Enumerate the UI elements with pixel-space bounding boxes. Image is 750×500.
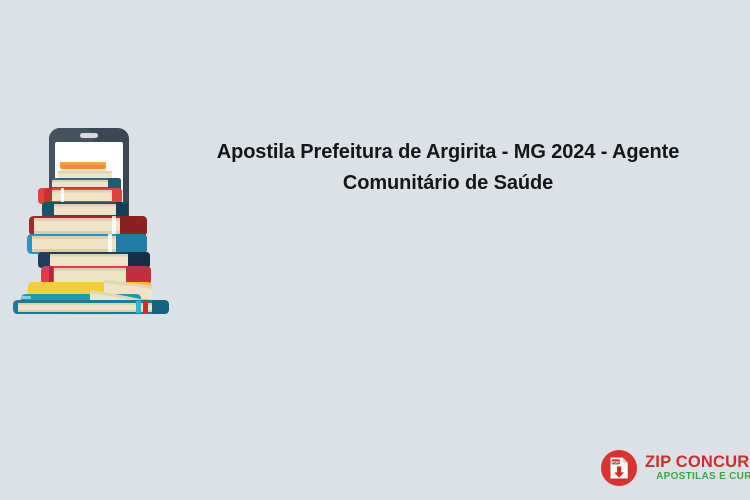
book-navy-upper [42,202,128,218]
brand-name: ZIP CONCURSOS [645,454,750,471]
pdf-download-circle-icon: PDF [600,449,638,487]
product-title-line-2: Comunitário de Saúde [168,168,728,199]
product-title-line-1: Apostila Prefeitura de Argirita - MG 202… [168,137,728,168]
book-teal-base [13,300,169,314]
stack-of-books-with-smartphone-illustration [8,122,176,317]
brand-logo: PDF ZIP CONCURSOS APOSTILAS E CURSOS [600,449,750,487]
svg-text:PDF: PDF [612,459,620,464]
product-banner: Apostila Prefeitura de Argirita - MG 202… [0,0,750,500]
brand-logo-text: ZIP CONCURSOS APOSTILAS E CURSOS [645,454,750,483]
book-darkred-middle [29,216,147,236]
book-blue-middle [27,234,147,254]
product-title: Apostila Prefeitura de Argirita - MG 202… [168,137,728,199]
bookmark-red [143,301,148,313]
bookmark-cyan [136,301,141,313]
book-cream-top [58,171,112,179]
book-darknavy-lower [38,252,150,268]
brand-tagline: APOSTILAS E CURSOS [645,471,750,483]
book-red-upper [38,188,122,204]
